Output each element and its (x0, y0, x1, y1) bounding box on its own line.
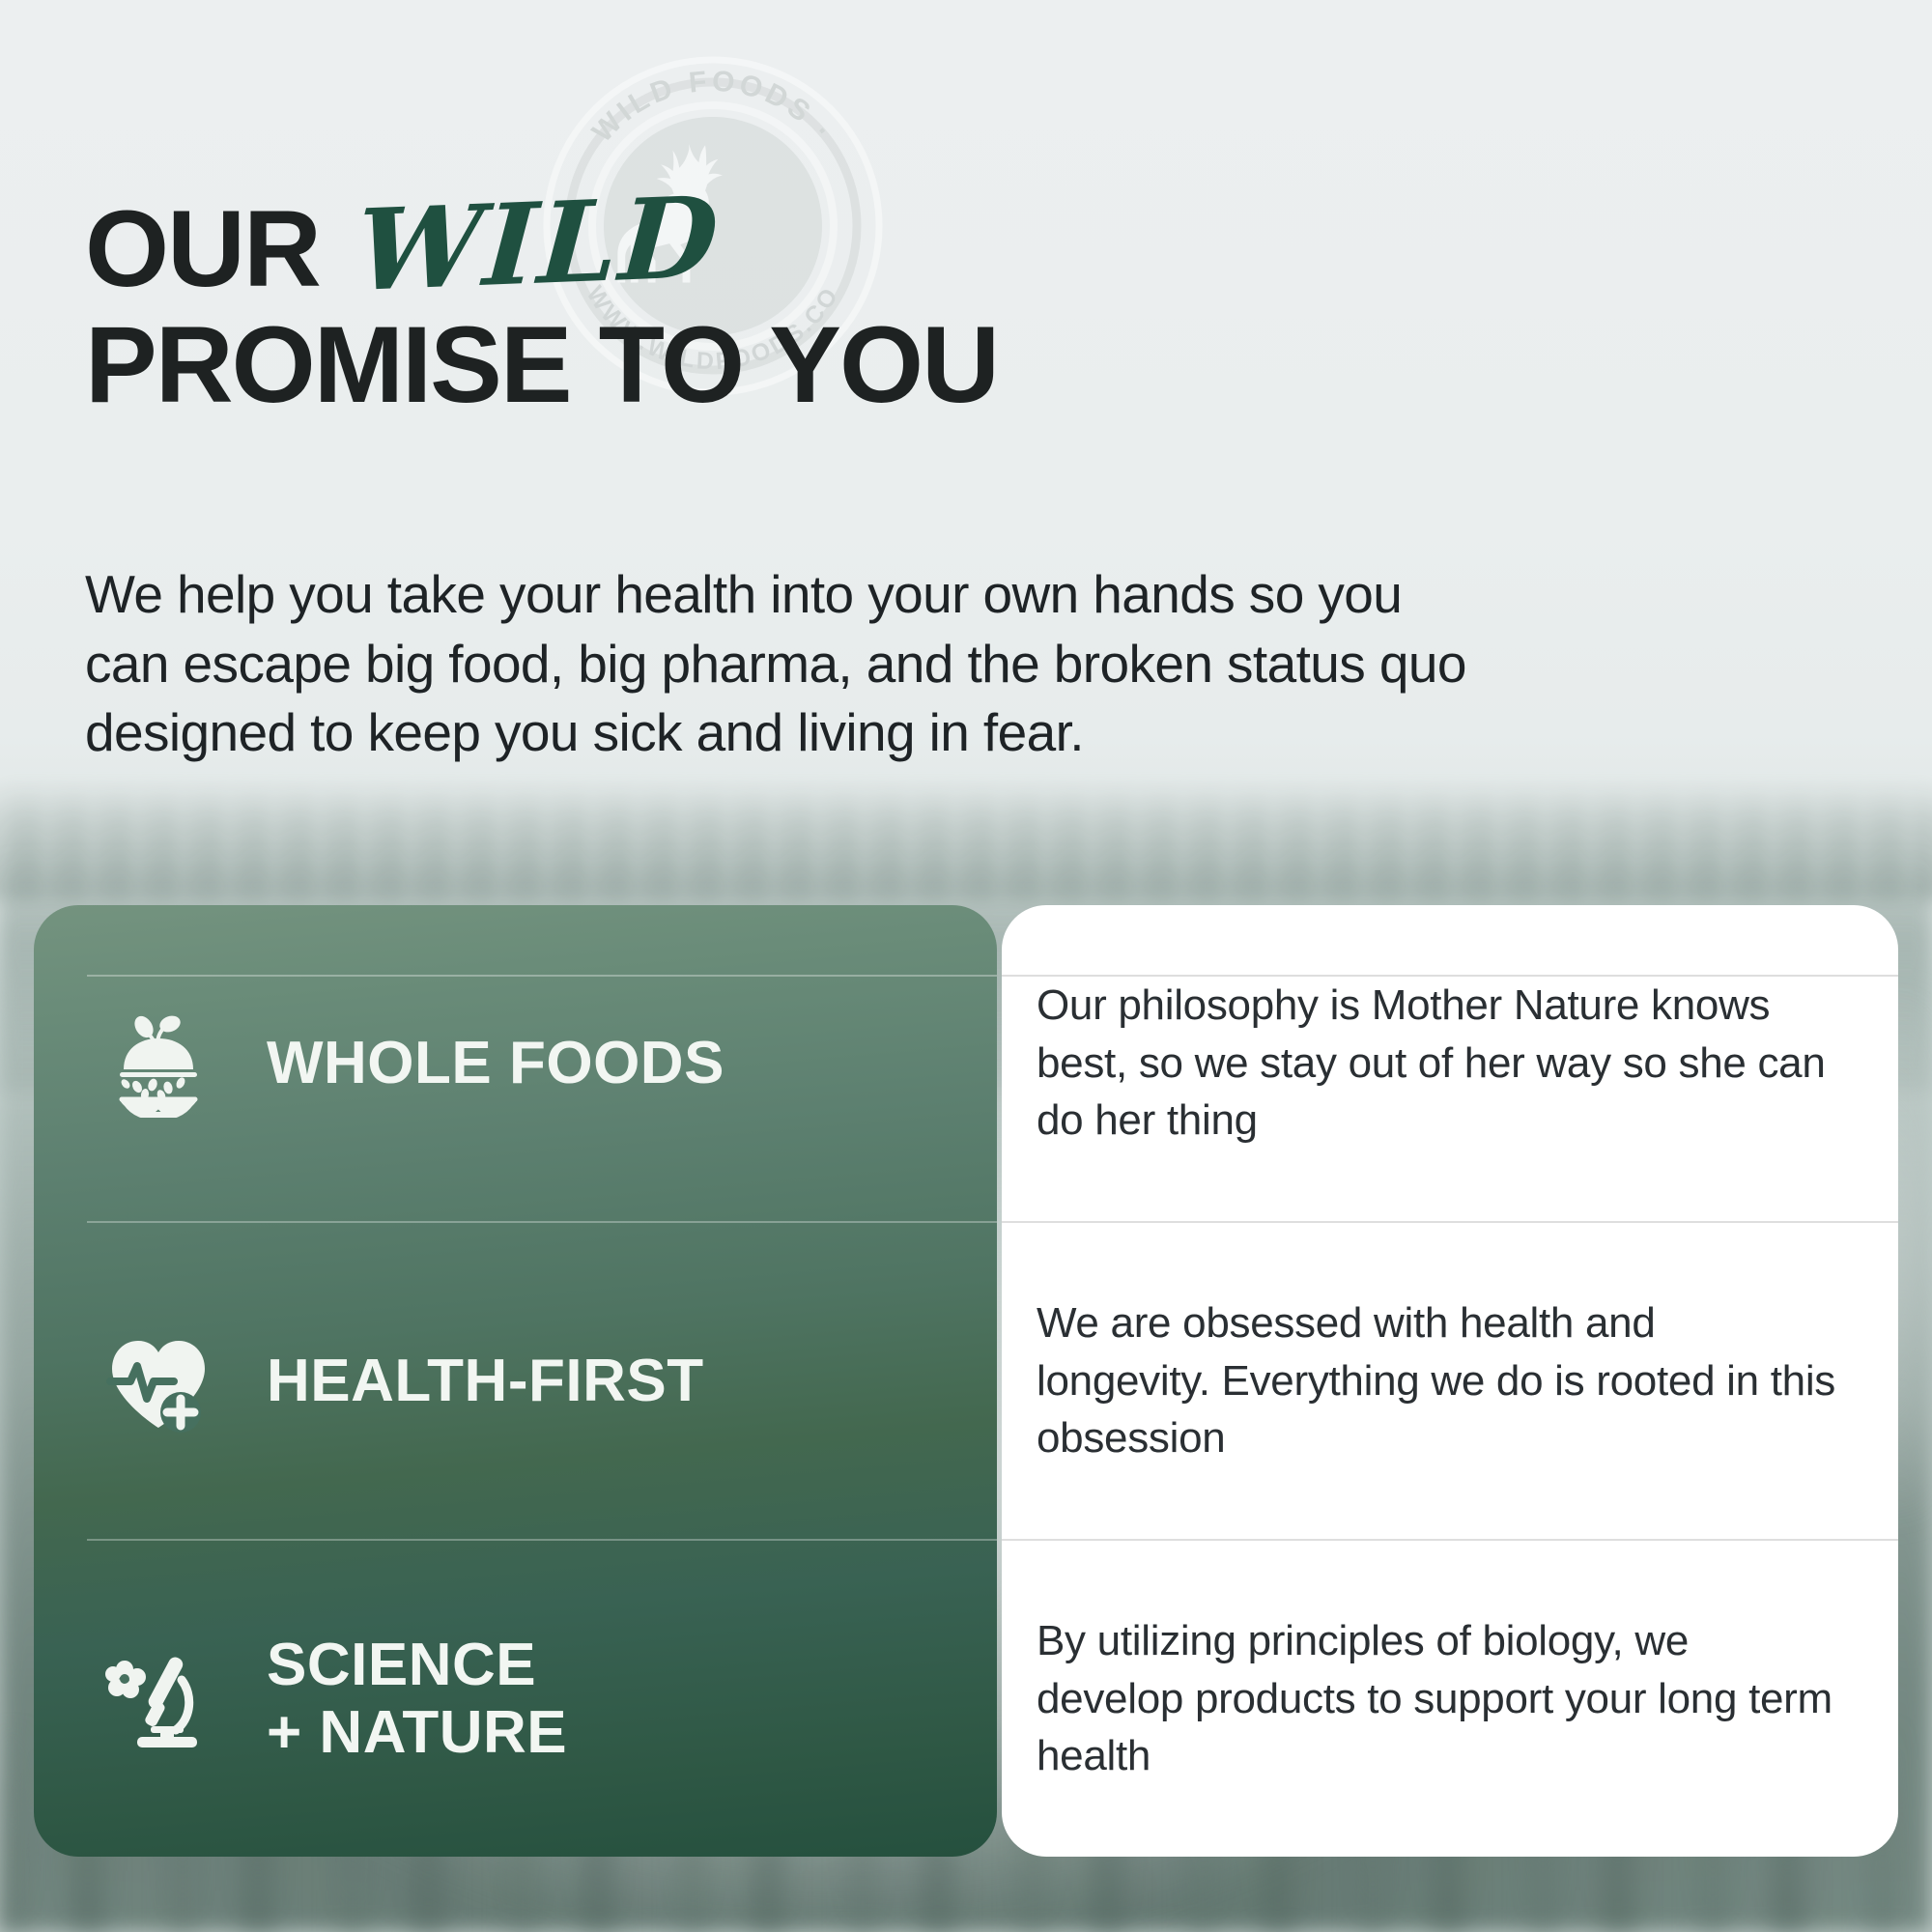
headline-line-1: OUR WILD (85, 191, 1341, 305)
description-row-science-nature: By utilizing principles of biology, we d… (1002, 1539, 1898, 1857)
promise-pillars-panel: WHOLE FOODS HEALTH-FIRST (34, 905, 997, 1857)
pillar-label: SCIENCE + NATURE (267, 1632, 567, 1766)
pillar-label: WHOLE FOODS (267, 1030, 724, 1096)
description-list: Our philosophy is Mother Nature knows be… (1002, 905, 1898, 1857)
headline-word-wild: WILD (353, 182, 724, 307)
promise-panels: WHOLE FOODS HEALTH-FIRST (34, 905, 1898, 1857)
pillar-row-science-nature[interactable]: SCIENCE + NATURE (87, 1539, 997, 1857)
pillar-list: WHOLE FOODS HEALTH-FIRST (87, 905, 997, 1857)
pillar-label: HEALTH-FIRST (267, 1348, 704, 1414)
description-row-health-first: We are obsessed with health and longevit… (1002, 1221, 1898, 1539)
description-text: Our philosophy is Mother Nature knows be… (1037, 977, 1838, 1149)
description-row-whole-foods: Our philosophy is Mother Nature knows be… (1002, 905, 1898, 1221)
pillar-row-whole-foods[interactable]: WHOLE FOODS (87, 905, 997, 1221)
sprouting-seed-bowl-icon (104, 1009, 213, 1118)
headline-line-2: PROMISE TO YOU (85, 311, 1341, 419)
description-text: By utilizing principles of biology, we d… (1037, 1612, 1838, 1784)
subhead-paragraph: We help you take your health into your o… (85, 560, 1476, 768)
description-text: We are obsessed with health and longevit… (1037, 1294, 1838, 1466)
promise-descriptions-panel: Our philosophy is Mother Nature knows be… (1002, 905, 1898, 1857)
headline-word-our: OUR (85, 195, 320, 303)
promise-graphic: WILD FOODS · WWW.WILDFOODS.CO OUR WILD P… (0, 0, 1932, 1932)
heart-pulse-plus-icon (104, 1327, 213, 1435)
pillar-row-health-first[interactable]: HEALTH-FIRST (87, 1221, 997, 1539)
page-title: OUR WILD PROMISE TO YOU (85, 191, 1341, 419)
microscope-cell-icon (104, 1645, 213, 1753)
